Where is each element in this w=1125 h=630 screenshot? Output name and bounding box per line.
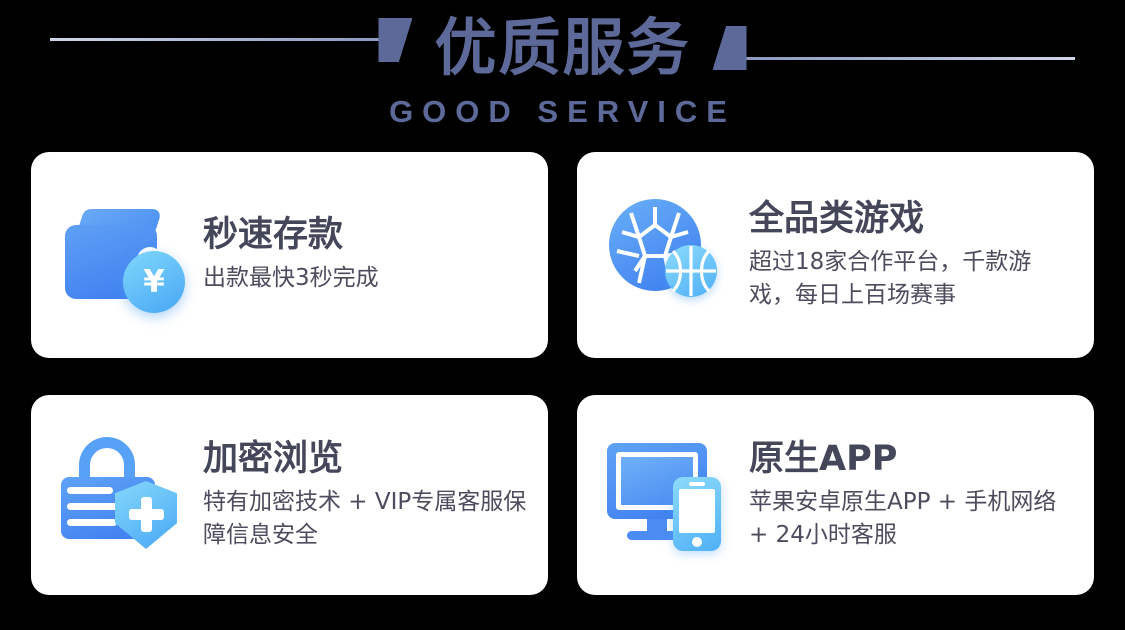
basketball-icon	[665, 245, 717, 297]
card-title: 加密浏览	[203, 439, 530, 479]
card-description: 苹果安卓原生APP + 手机网络 + 24小时客服	[749, 486, 1076, 551]
feature-card-games[interactable]: 全品类游戏 超过18家合作平台，千款游戏，每日上百场赛事	[577, 152, 1094, 358]
feature-card-deposit[interactable]: ¥ 秒速存款 出款最快3秒完成	[31, 152, 548, 358]
card-title: 全品类游戏	[749, 199, 1076, 239]
card-description: 超过18家合作平台，千款游戏，每日上百场赛事	[749, 246, 1076, 311]
card-description: 特有加密技术 + VIP专属客服保障信息安全	[203, 486, 530, 551]
feature-card-native-app[interactable]: 原生APP 苹果安卓原生APP + 手机网络 + 24小时客服	[577, 395, 1094, 595]
shield-cross-icon	[129, 509, 164, 520]
card-text: 加密浏览 特有加密技术 + VIP专属客服保障信息安全	[203, 439, 530, 552]
page-title: 优质服务	[412, 17, 712, 79]
left-decoration	[50, 18, 412, 78]
card-text: 秒速存款 出款最快3秒完成	[203, 215, 379, 295]
lock-stripe-icon	[67, 487, 113, 494]
card-title: 原生APP	[749, 439, 1076, 479]
card-title: 秒速存款	[203, 215, 379, 255]
soccer-basketball-icon	[603, 189, 735, 321]
feature-card-grid: ¥ 秒速存款 出款最快3秒完成	[31, 152, 1094, 595]
card-text: 原生APP 苹果安卓原生APP + 手机网络 + 24小时客服	[749, 439, 1076, 552]
decoration-slash-left	[378, 18, 412, 62]
phone-speaker-icon	[689, 482, 705, 486]
monitor-phone-icon	[603, 429, 735, 561]
phone-screen-icon	[679, 489, 715, 533]
card-description: 出款最快3秒完成	[203, 262, 379, 295]
promo-banner: 优质服务 GOOD SERVICE ¥ 秒速存款 出款最快3秒完成	[0, 0, 1125, 630]
decoration-slash-right	[713, 26, 747, 70]
page-subtitle: GOOD SERVICE	[0, 96, 1125, 127]
feature-card-encryption[interactable]: 加密浏览 特有加密技术 + VIP专属客服保障信息安全	[31, 395, 548, 595]
lock-shield-icon	[57, 429, 189, 561]
card-text: 全品类游戏 超过18家合作平台，千款游戏，每日上百场赛事	[749, 199, 1076, 312]
phone-home-button-icon	[692, 537, 702, 547]
header-title-row: 优质服务	[0, 8, 1125, 88]
decoration-line-left	[50, 38, 380, 41]
yen-coin-icon: ¥	[123, 251, 185, 313]
wallet-yen-icon: ¥	[57, 189, 189, 321]
lock-stripe-icon	[67, 519, 117, 526]
decoration-line-right	[745, 57, 1075, 60]
header: 优质服务 GOOD SERVICE	[0, 0, 1125, 145]
right-decoration	[713, 18, 1075, 78]
